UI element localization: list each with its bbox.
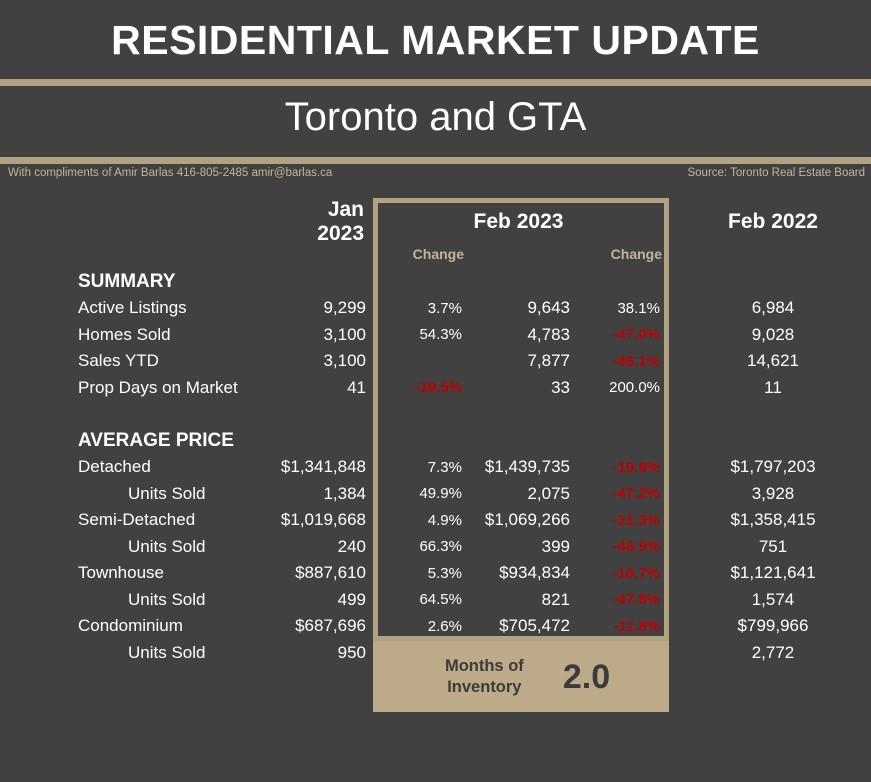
table-row: Homes Sold 3,100 54.3% 4,783 -47.0% 9,02…: [0, 322, 871, 349]
cell-feb-2023: 33: [476, 378, 576, 398]
cell-feb-2022: 11: [675, 378, 871, 398]
cell-change-1: 4.9%: [373, 512, 476, 529]
table-row: Units Sold 240 66.3% 399 -46.9% 751: [0, 534, 871, 561]
table-row: Units Sold 499 64.5% 821 -47.8% 1,574: [0, 587, 871, 614]
row-label: Active Listings: [78, 298, 278, 318]
cell-change-1: 49.9%: [373, 485, 476, 502]
table-row: Townhouse $887,610 5.3% $934,834 -16.7% …: [0, 560, 871, 587]
cell-change-2: -21.3%: [576, 512, 672, 529]
table-header-row: Jan 2023 Feb 2023 Feb 2022: [0, 198, 871, 240]
table-row: Active Listings 9,299 3.7% 9,643 38.1% 6…: [0, 295, 871, 322]
cell-change-1: 54.3%: [373, 326, 476, 343]
row-label: Prop Days on Market: [78, 378, 278, 398]
row-label: Homes Sold: [78, 325, 278, 345]
cell-feb-2022: 2,772: [675, 643, 871, 663]
row-label: Townhouse: [78, 563, 278, 583]
moi-label-line2: Inventory: [447, 678, 521, 696]
column-header-change-2: Change: [576, 246, 672, 262]
cell-feb-2022: 1,574: [675, 590, 871, 610]
cell-change-1: 2.6%: [373, 618, 476, 635]
row-label: Units Sold: [78, 590, 278, 610]
cell-jan-2023: 950: [278, 643, 370, 663]
cell-feb-2022: 9,028: [675, 325, 871, 345]
credit-line: With compliments of Amir Barlas 416-805-…: [8, 167, 332, 179]
cell-change-2: -46.1%: [576, 353, 672, 370]
table-subheader-row: Change Change: [0, 240, 871, 268]
table-row: Detached $1,341,848 7.3% $1,439,735 -19.…: [0, 454, 871, 481]
cell-change-1: 3.7%: [373, 300, 476, 317]
column-header-feb-2023: Feb 2023: [373, 210, 672, 234]
cell-change-1: 7.3%: [373, 459, 476, 476]
divider-top: [0, 79, 871, 86]
cell-change-2: -47.0%: [576, 326, 672, 343]
cell-feb-2022: 14,621: [675, 351, 871, 371]
table-row: Sales YTD 3,100 7,877 -46.1% 14,621: [0, 348, 871, 375]
cell-change-2: 200.0%: [576, 379, 672, 396]
cell-feb-2022: 6,984: [675, 298, 871, 318]
cell-feb-2023: 4,783: [476, 325, 576, 345]
months-of-inventory-box: Months of Inventory 2.0: [373, 641, 669, 712]
cell-change-1: 64.5%: [373, 591, 476, 608]
row-label: Units Sold: [78, 643, 278, 663]
cell-feb-2023: $1,069,266: [476, 510, 576, 530]
cell-feb-2022: $1,797,203: [675, 457, 871, 477]
cell-feb-2022: 3,928: [675, 484, 871, 504]
section-header-summary: SUMMARY: [0, 268, 871, 295]
table-row: Prop Days on Market 41 -19.5% 33 200.0% …: [0, 375, 871, 402]
cell-jan-2023: 9,299: [278, 298, 370, 318]
section-title: AVERAGE PRICE: [78, 430, 278, 452]
cell-feb-2023: 399: [476, 537, 576, 557]
cell-feb-2023: 2,075: [476, 484, 576, 504]
column-header-change-1: Change: [373, 246, 476, 262]
row-label: Condominium: [78, 616, 278, 636]
column-header-jan-2023: Jan 2023: [278, 198, 370, 246]
cell-feb-2022: $799,966: [675, 616, 871, 636]
cell-change-2: -47.8%: [576, 591, 672, 608]
table-row: Condominium $687,696 2.6% $705,472 -11.8…: [0, 613, 871, 640]
data-table: Jan 2023 Feb 2023 Feb 2022 Change Change…: [0, 198, 871, 666]
cell-feb-2022: $1,121,641: [675, 563, 871, 583]
cell-jan-2023: 1,384: [278, 484, 370, 504]
cell-change-2: 38.1%: [576, 300, 672, 317]
report-page: RESIDENTIAL MARKET UPDATE Toronto and GT…: [0, 0, 871, 782]
cell-feb-2023: 821: [476, 590, 576, 610]
cell-feb-2022: 751: [675, 537, 871, 557]
cell-jan-2023: 240: [278, 537, 370, 557]
page-subtitle: Toronto and GTA: [0, 97, 871, 137]
table-row: Semi-Detached $1,019,668 4.9% $1,069,266…: [0, 507, 871, 534]
cell-jan-2023: $1,019,668: [278, 510, 370, 530]
row-label: Sales YTD: [78, 351, 278, 371]
cell-jan-2023: 3,100: [278, 351, 370, 371]
page-title: RESIDENTIAL MARKET UPDATE: [0, 20, 871, 61]
cell-feb-2023: $934,834: [476, 563, 576, 583]
cell-change-2: -19.9%: [576, 459, 672, 476]
cell-jan-2023: 499: [278, 590, 370, 610]
months-of-inventory-label: Months of Inventory: [432, 656, 537, 697]
months-of-inventory-value: 2.0: [563, 660, 610, 694]
cell-change-2: -16.7%: [576, 565, 672, 582]
row-label: Semi-Detached: [78, 510, 278, 530]
cell-jan-2023: $887,610: [278, 563, 370, 583]
row-label: Units Sold: [78, 537, 278, 557]
cell-feb-2023: $1,439,735: [476, 457, 576, 477]
section-spacer: [0, 401, 871, 427]
section-header-average-price: AVERAGE PRICE: [0, 427, 871, 454]
cell-feb-2023: $705,472: [476, 616, 576, 636]
cell-jan-2023: 41: [278, 378, 370, 398]
cell-change-2: -47.2%: [576, 485, 672, 502]
row-label: Units Sold: [78, 484, 278, 504]
moi-label-line1: Months of: [445, 657, 524, 675]
cell-jan-2023: $1,341,848: [278, 457, 370, 477]
cell-change-1: 66.3%: [373, 538, 476, 555]
source-line: Source: Toronto Real Estate Board: [687, 167, 865, 179]
cell-jan-2023: 3,100: [278, 325, 370, 345]
cell-feb-2023: 9,643: [476, 298, 576, 318]
column-header-feb-2022: Feb 2022: [675, 210, 871, 234]
cell-change-2: -11.8%: [576, 618, 672, 635]
cell-feb-2022: $1,358,415: [675, 510, 871, 530]
table-row: Units Sold 1,384 49.9% 2,075 -47.2% 3,92…: [0, 481, 871, 508]
cell-change-1: -19.5%: [373, 379, 476, 396]
cell-feb-2023: 7,877: [476, 351, 576, 371]
divider-bottom: [0, 157, 871, 164]
row-label: Detached: [78, 457, 278, 477]
cell-change-2: -46.9%: [576, 538, 672, 555]
cell-jan-2023: $687,696: [278, 616, 370, 636]
cell-change-1: 5.3%: [373, 565, 476, 582]
section-title: SUMMARY: [78, 271, 278, 293]
